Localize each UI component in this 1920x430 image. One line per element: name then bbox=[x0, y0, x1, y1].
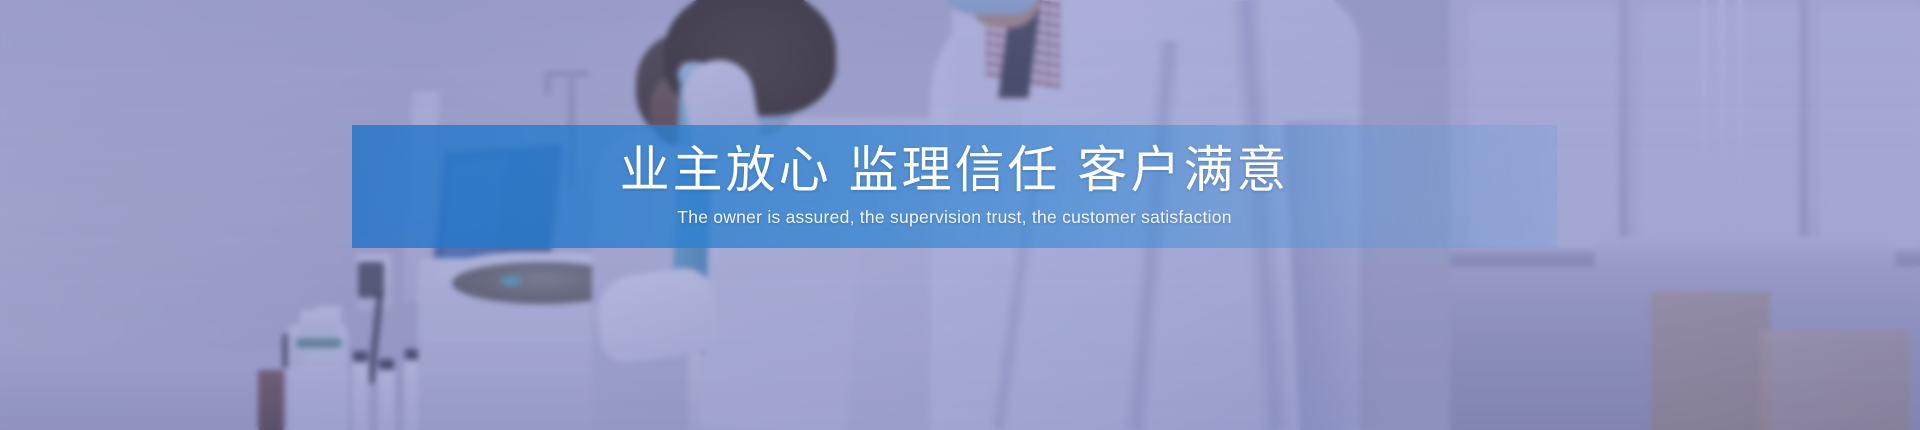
caption-inner: 业主放心 监理信任 客户满意 The owner is assured, the… bbox=[352, 144, 1557, 229]
banner-subline: The owner is assured, the supervision tr… bbox=[352, 206, 1557, 229]
caption-band: 业主放心 监理信任 客户满意 The owner is assured, the… bbox=[352, 125, 1557, 248]
banner-headline: 业主放心 监理信任 客户满意 bbox=[352, 144, 1557, 197]
hero-banner: 业主放心 监理信任 客户满意 The owner is assured, the… bbox=[0, 0, 1920, 430]
